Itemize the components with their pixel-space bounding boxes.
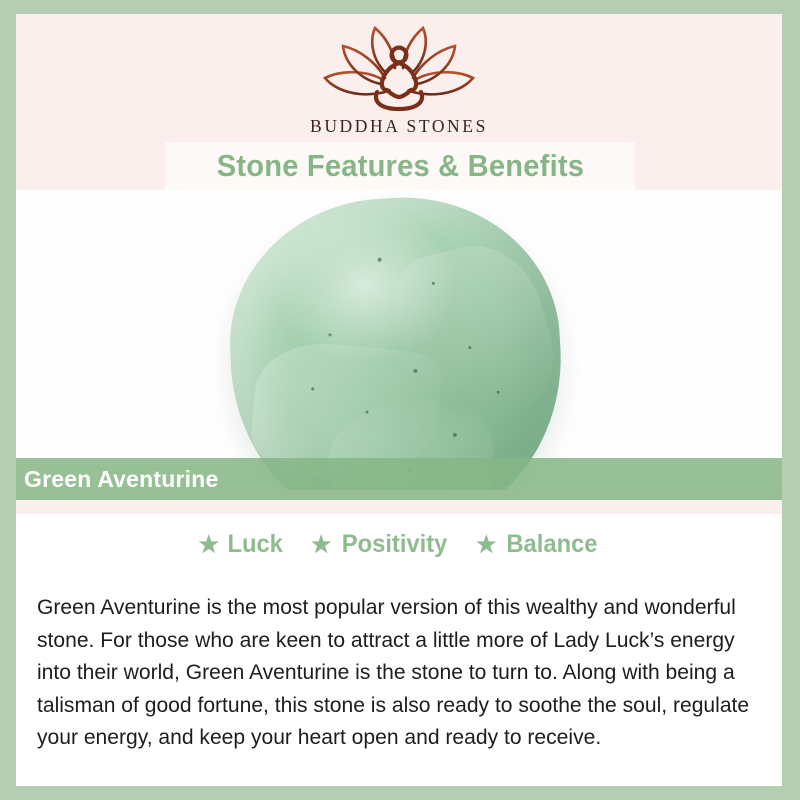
star-icon	[311, 534, 332, 555]
stone-speck	[328, 333, 331, 336]
brand-name: BUDDHA STONES	[16, 116, 782, 137]
star-icon	[476, 534, 497, 555]
benefits-list: Luck Positivity Balance	[16, 530, 782, 559]
stone-speck	[468, 346, 471, 349]
description-text: Green Aventurine is the most popular ver…	[37, 591, 754, 754]
benefit-item: Luck	[198, 530, 284, 559]
benefit-label: Balance	[506, 530, 597, 559]
brand-logo: BUDDHA STONES	[16, 22, 782, 137]
stone-name-bar: Green Aventurine	[16, 458, 782, 500]
poster-inner-frame: BUDDHA STONES	[16, 14, 782, 786]
benefit-item: Positivity	[311, 530, 450, 559]
stone-speck	[413, 369, 417, 373]
benefit-label: Positivity	[341, 530, 447, 559]
star-icon	[198, 534, 219, 555]
benefit-label: Luck	[228, 530, 283, 559]
stone-speck	[453, 433, 457, 437]
section-title-banner: Stone Features & Benefits	[165, 142, 635, 190]
header: BUDDHA STONES	[16, 14, 782, 142]
poster-root: BUDDHA STONES	[0, 0, 800, 800]
divider-strip	[16, 500, 782, 514]
stone-photo	[16, 190, 782, 490]
stone-speck	[431, 282, 434, 285]
section-title: Stone Features & Benefits	[216, 148, 583, 184]
stone-speck	[377, 258, 381, 262]
description-panel: Luck Positivity Balance Green Aventurine…	[16, 514, 782, 786]
benefit-item: Balance	[476, 530, 600, 559]
lotus-meditation-figure-icon	[311, 22, 487, 114]
stone-name: Green Aventurine	[24, 466, 219, 493]
